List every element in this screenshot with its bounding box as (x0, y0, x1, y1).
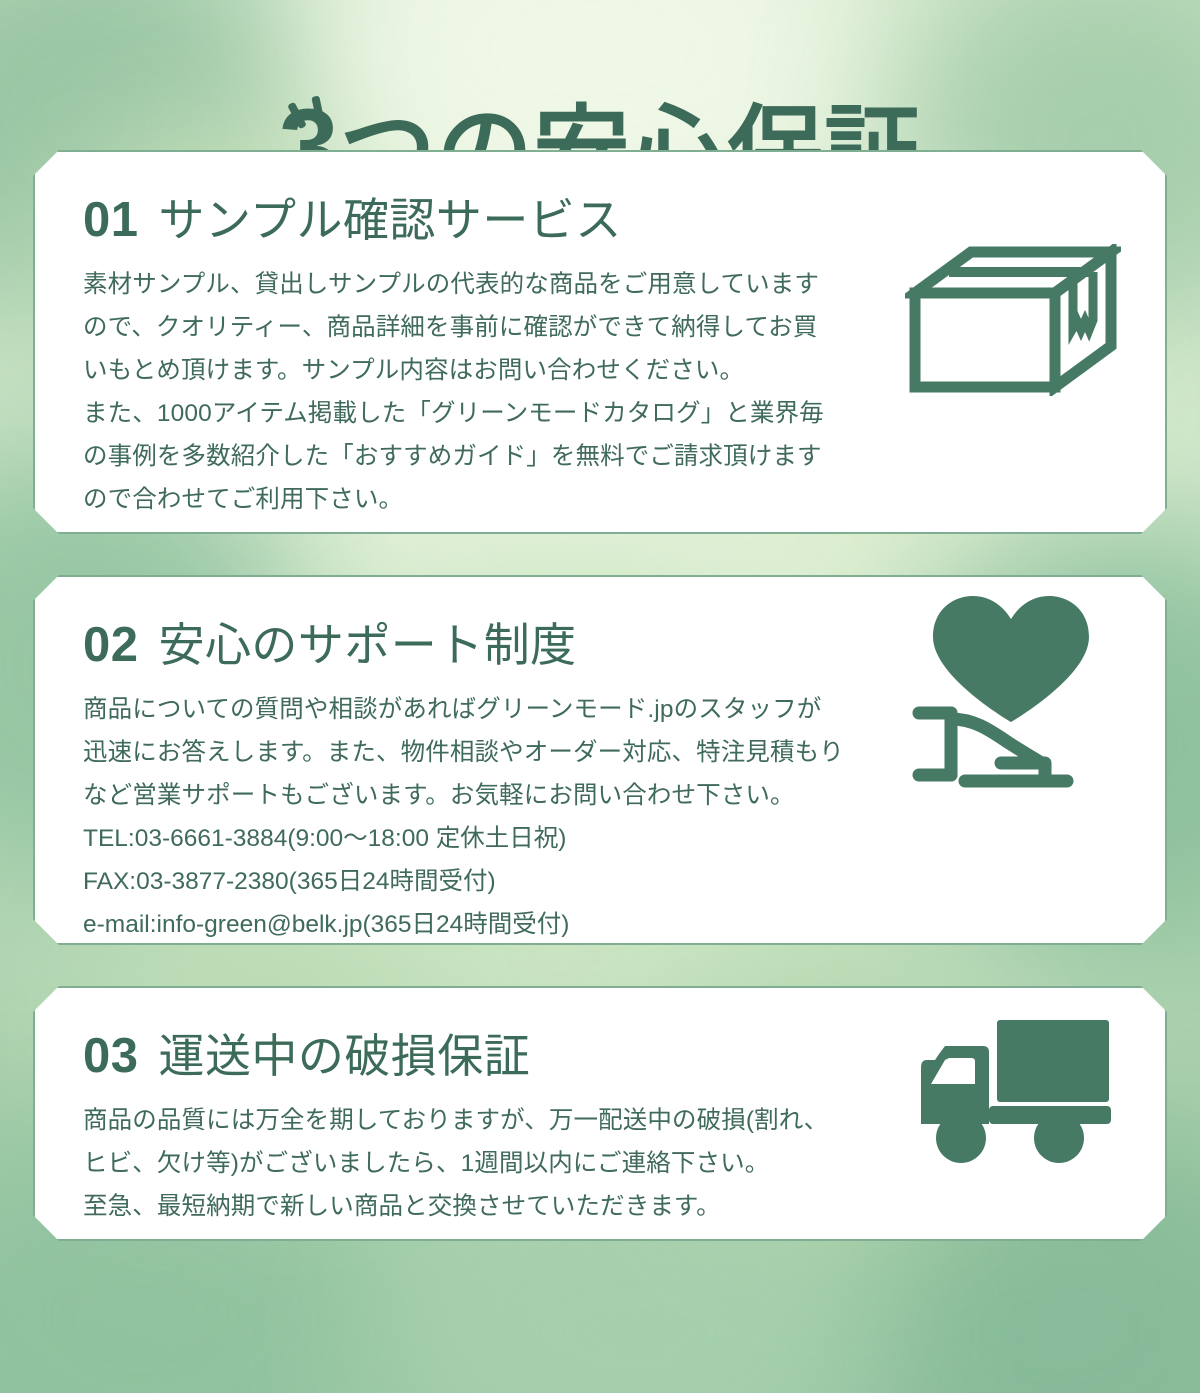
card-01-title: サンプル確認サービス (158, 197, 621, 243)
card-03-line-1: 商品の品質には万全を期しておりますが、万一配送中の破損(割れ、 (83, 1099, 893, 1142)
guarantee-card-01: 01 サンプル確認サービス 素材サンプル、貸出しサンプルの代表的な商品をご用意し… (33, 150, 1167, 534)
contact-email: e-mail:info-green@belk.jp(365日24時間受付) (83, 903, 893, 946)
card-02-number: 02 (83, 621, 138, 670)
guarantee-card-03: 03 運送中の破損保証 商品の品質には万全を期しておりますが、万一配送中の破損(… (33, 986, 1167, 1241)
card-02-line-2: 迅速にお答えします。また、物件相談やオーダー対応、特注見積もり (83, 731, 893, 774)
card-03-title: 運送中の破損保証 (158, 1033, 530, 1079)
card-03-body: 商品の品質には万全を期しておりますが、万一配送中の破損(割れ、 ヒビ、欠け等)が… (83, 1099, 893, 1228)
card-03-line-2: ヒビ、欠け等)がございましたら、1週間以内にご連絡下さい。 (83, 1142, 893, 1185)
card-01-number: 01 (83, 196, 138, 245)
page-header: 3つの安心保証 (0, 0, 1200, 150)
guarantee-page: 3つの安心保証 01 サンプル確認サービス 素材サンプル、貸出しサンプルの代表的… (0, 0, 1200, 1393)
contact-tel: TEL:03-6661-3884(9:00〜18:00 定休土日祝) (83, 817, 893, 860)
card-02-body: 商品についての質問や相談があればグリーンモード.jpのスタッフが 迅速にお答えし… (83, 688, 893, 946)
card-01-line-3: いもとめ頂けます。サンプル内容はお問い合わせください。 (83, 349, 893, 392)
card-03-number: 03 (83, 1032, 138, 1081)
card-03-line-3: 至急、最短納期で新しい商品と交換させていただきます。 (83, 1185, 893, 1228)
card-01-line-6: ので合わせてご利用下さい。 (83, 478, 893, 521)
heart-in-hand-icon (905, 585, 1117, 795)
card-02-title: 安心のサポート制度 (158, 622, 576, 668)
card-01-line-2: ので、クオリティー、商品詳細を事前に確認ができて納得してお買 (83, 306, 893, 349)
card-01-line-4: また、1000アイテム掲載した「グリーンモードカタログ」と業界毎 (83, 392, 893, 435)
guarantee-card-02: 02 安心のサポート制度 商品についての質問や相談があればグリーンモード.jpの… (33, 575, 1167, 945)
cardboard-box-icon (905, 244, 1121, 396)
card-01-heading: 01 サンプル確認サービス (83, 196, 1125, 245)
delivery-truck-icon (905, 1006, 1121, 1170)
card-01-line-1: 素材サンプル、貸出しサンプルの代表的な商品をご用意しています (83, 263, 893, 306)
card-02-line-3: など営業サポートもございます。お気軽にお問い合わせ下さい。 (83, 774, 893, 817)
contact-fax: FAX:03-3877-2380(365日24時間受付) (83, 860, 893, 903)
card-01-body: 素材サンプル、貸出しサンプルの代表的な商品をご用意しています ので、クオリティー… (83, 263, 893, 521)
card-02-line-1: 商品についての質問や相談があればグリーンモード.jpのスタッフが (83, 688, 893, 731)
card-01-line-5: の事例を多数紹介した「おすすめガイド」を無料でご請求頂けます (83, 435, 893, 478)
guarantee-card-list: 01 サンプル確認サービス 素材サンプル、貸出しサンプルの代表的な商品をご用意し… (33, 150, 1167, 1241)
